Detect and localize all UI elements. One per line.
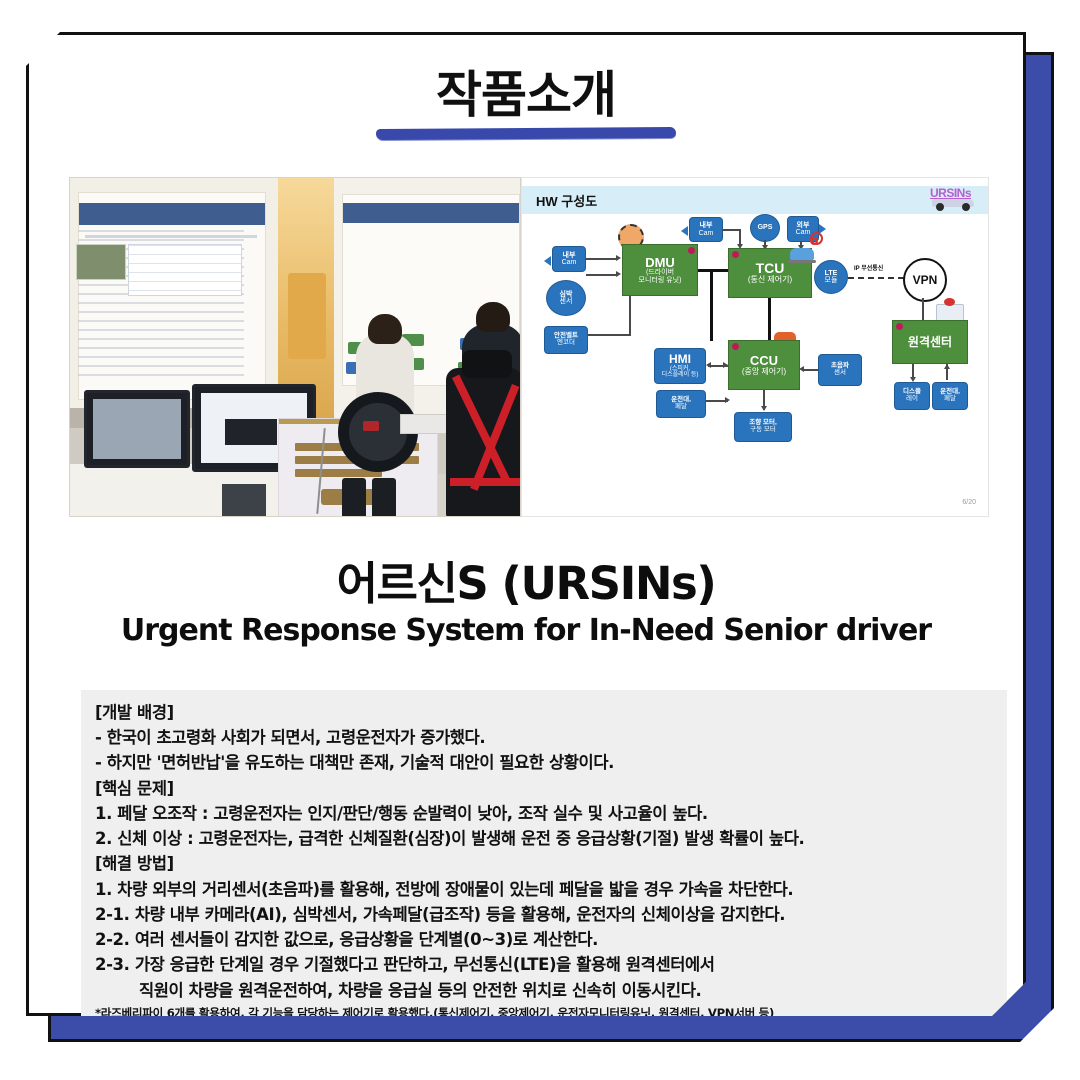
node-remote-center: 원격센터	[892, 320, 968, 364]
link-label-ip-wireless: IP 무선통신	[854, 263, 883, 272]
slide-title: HW 구성도	[536, 191, 597, 210]
arrow-icon	[723, 362, 728, 368]
description-line: 1. 차량 외부의 거리센서(초음파)를 활용해, 전방에 장애물이 있는데 페…	[95, 877, 995, 902]
photo-seatbelt	[446, 374, 521, 517]
arrow-icon	[725, 397, 730, 403]
link-innercam-dmu	[586, 258, 618, 260]
arrow-icon	[799, 366, 804, 372]
description-line: 직원이 차량을 원격운전하여, 차량을 응급실 등의 안전한 위치로 신속히 이…	[95, 978, 995, 1003]
wifi-icon	[810, 234, 824, 245]
camera-icon	[681, 226, 688, 236]
description-line: 2-2. 여러 센서들이 감지한 값으로, 응급상황을 단계별(0~3)로 계산…	[95, 927, 995, 952]
photo-pedal-1	[342, 478, 366, 517]
link-innercamtop-v	[739, 229, 741, 245]
arrow-icon	[761, 406, 767, 411]
page-title: 작품소개	[29, 69, 1023, 122]
arrow-icon	[706, 362, 711, 368]
project-title: 어르신S (URSINs)	[29, 547, 1023, 612]
node-inner-cam-top: 내부 Cam	[689, 217, 723, 242]
car-icon	[932, 199, 974, 207]
description-line: [해결 방법]	[95, 851, 995, 876]
bus-vertical-left	[710, 269, 713, 341]
raspberry-pi-icon	[896, 323, 903, 330]
link-ultrasonic-ccu	[802, 369, 818, 371]
description-line: 2-1. 차량 내부 카메라(AI), 심박센서, 가속페달(급조작) 등을 활…	[95, 902, 995, 927]
link-innercamtop-h	[722, 229, 740, 231]
poster-right-band	[343, 203, 519, 223]
description-line: - 한국이 초고령화 사회가 되면서, 고령운전자가 증가했다.	[95, 725, 995, 750]
ursins-logo: URSINs	[930, 186, 978, 212]
diagram-canvas: 내부 Cam 심박 센서 안전벨트 엔코더	[522, 214, 989, 484]
photo-banner-text	[288, 273, 326, 359]
node-remote-display: 디스플 레이	[894, 382, 930, 410]
description-line: 1. 페달 오조작 : 고령운전자는 인지/판단/행동 순발력이 낮아, 조작 …	[95, 801, 995, 826]
node-lte-module: LTE 모듈	[814, 260, 848, 294]
description-line: - 하지만 '면허반납'을 유도하는 대책만 존재, 기술적 대안이 필요한 상…	[95, 750, 995, 775]
arrow-icon	[944, 364, 950, 369]
description-line: [개발 배경]	[95, 700, 995, 725]
arrow-icon	[616, 255, 621, 261]
photo-floor-mat	[222, 484, 266, 517]
node-vpn: VPN	[903, 258, 947, 302]
link-heart-dmu	[586, 274, 618, 276]
node-gps: GPS	[750, 214, 780, 242]
node-seatbelt-encoder: 안전벨트 엔코더	[544, 326, 588, 354]
node-remote-pedal: 운전대, 페달	[932, 382, 968, 410]
camera-icon	[544, 256, 551, 266]
node-driver-pedal: 운전대, 페달	[656, 390, 706, 418]
link-seatbelt-h	[588, 334, 630, 336]
node-heart-sensor: 심박 센서	[546, 280, 586, 316]
raspberry-pi-icon	[688, 247, 695, 254]
link-seatbelt-v	[629, 290, 631, 336]
poster-card: 작품소개	[26, 32, 1026, 1016]
description-line: 2-3. 가장 응급한 단계일 경우 기절했다고 판단하고, 무선통신(LTE)…	[95, 952, 995, 977]
heading-block: 작품소개	[29, 69, 1023, 139]
description-line: [핵심 문제]	[95, 776, 995, 801]
poster-stage: 작품소개	[0, 0, 1080, 1080]
poster-right-table	[128, 244, 242, 296]
ursins-logo-text: URSINs	[930, 186, 971, 200]
link-ip-wireless	[848, 277, 904, 279]
node-ultrasonic-sensor: 초음파 센서	[818, 354, 862, 386]
title-underline-brush	[376, 127, 676, 140]
node-dmu: DMU (드라이버 모니터링 유닛)	[622, 244, 698, 296]
poster-right-thumb	[76, 244, 126, 280]
bus-dmu-tcu	[698, 269, 728, 272]
description-line: 2. 신체 이상 : 고령운전자는, 급격한 신체질환(심장)이 발생해 운전 …	[95, 826, 995, 851]
photo-pedal-2	[372, 478, 396, 517]
link-vpn-remote	[922, 298, 924, 320]
connected-car-icon	[790, 248, 814, 260]
poster-left-band	[79, 203, 265, 225]
raspberry-pi-icon	[732, 251, 739, 258]
node-motors: 조향 모터, 구동 모터	[734, 412, 792, 442]
node-hmi: HMI (스피커, 디스플레이 등)	[654, 348, 706, 384]
media-row: HW 구성도 URSINs 6/20 내부 Cam	[69, 177, 989, 517]
bus-tcu-ccu	[768, 298, 771, 341]
exhibition-booth-photo	[69, 177, 521, 517]
arrow-icon	[616, 271, 621, 277]
slide-page-number: 6/20	[962, 499, 976, 506]
project-subtitle: Urgent Response System for In-Need Senio…	[29, 613, 1023, 648]
node-inner-cam-left: 내부 Cam	[552, 246, 586, 272]
raspberry-pi-icon	[732, 343, 739, 350]
hw-architecture-slide: HW 구성도 URSINs 6/20 내부 Cam	[521, 177, 989, 517]
photo-monitor-1	[84, 390, 190, 468]
description-block: [개발 배경]- 한국이 초고령화 사회가 되면서, 고령운전자가 증가했다.-…	[81, 690, 1007, 1020]
